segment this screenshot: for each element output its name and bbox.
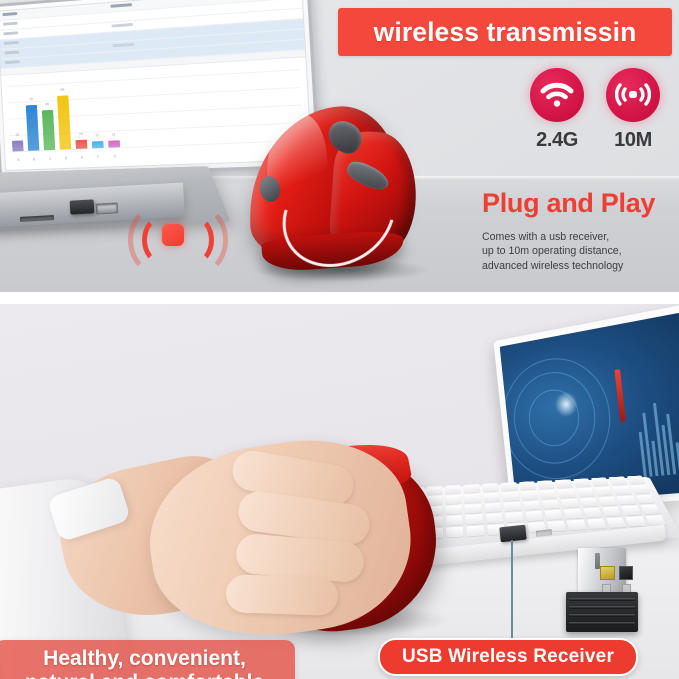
keyboard-key: [626, 516, 647, 526]
chart-bar: 66C: [42, 110, 55, 150]
usb-receiver-label: USB Wireless Receiver: [378, 638, 638, 676]
badge-label: 10M: [606, 129, 660, 152]
healthy-banner-line1: Healthy, convenient,: [25, 647, 264, 671]
keyboard-key: [464, 494, 481, 503]
keyboard-key: [617, 495, 637, 505]
keyboard-key: [486, 513, 504, 523]
keyboard-key: [446, 527, 464, 538]
vertical-ergonomic-mouse: [236, 108, 428, 280]
keyboard-key: [635, 494, 655, 503]
keyboard-key: [505, 512, 523, 522]
chart-bar: 12F: [92, 141, 104, 149]
keyboard-key: [558, 489, 576, 498]
wifi-signal-icon: [530, 68, 584, 122]
keyboard-key: [464, 484, 480, 493]
plug-and-play-description: Comes with a usb receiver, up to 10m ope…: [482, 230, 676, 273]
dashboard-table: [0, 0, 305, 73]
chart-bar: 76B: [26, 105, 40, 151]
usb-plastic-body: [566, 592, 638, 632]
usb-nano-receiver: [566, 548, 638, 632]
headline-banner: wireless transmissin: [338, 8, 672, 56]
keyboard-key: [591, 477, 609, 486]
keyboard-key: [631, 485, 650, 494]
keyboard-key: [519, 481, 536, 490]
keyboard-key: [483, 493, 500, 502]
keyboard-key: [465, 504, 482, 514]
keyboard-key: [561, 499, 580, 509]
usb-contact-dark: [619, 566, 633, 580]
keyboard-key: [539, 490, 557, 499]
description-line: advanced wireless technology: [482, 259, 676, 273]
keyboard-key: [576, 488, 595, 497]
keyboard-key: [521, 491, 539, 500]
healthy-banner: Healthy, convenient, natural and comfort…: [0, 640, 295, 679]
keyboard-key: [445, 485, 461, 494]
keyboard-key: [564, 509, 583, 519]
chart-bar: 88D: [57, 96, 71, 150]
keyboard-key: [542, 500, 560, 510]
badge-10m: 10M: [606, 68, 660, 172]
panel-divider: [0, 292, 679, 304]
keyboard-key: [586, 519, 606, 530]
keyboard-key: [544, 510, 563, 520]
plug-and-play-title: Plug and Play: [482, 190, 676, 217]
usb-metal-connector: [578, 548, 626, 596]
top-panel: 18A76B66C88D14E12F11G: [0, 0, 679, 292]
keyboard-key: [640, 505, 661, 515]
keyboard-key: [573, 478, 591, 487]
keyboard-key: [484, 503, 502, 513]
keyboard-key: [523, 501, 541, 511]
badge-2-4g: 2.4G: [530, 68, 584, 172]
keyboard-key: [602, 507, 622, 517]
keyboard-key: [621, 506, 641, 516]
keyboard-key: [500, 482, 517, 491]
keyboard-key: [609, 476, 628, 485]
badge-label: 2.4G: [530, 129, 584, 152]
keyboard-key: [446, 505, 463, 515]
plug-and-play-block: Plug and Play Comes with a usb receiver,…: [482, 190, 676, 273]
keyboard-key: [594, 487, 613, 496]
wireless-transmission-icon: [606, 68, 660, 122]
keyboard-key: [426, 486, 442, 495]
finger: [225, 574, 338, 616]
chart-bar: 18A: [12, 140, 24, 151]
usb-dongle-plugged-top: [70, 199, 95, 214]
keyboard-key: [537, 480, 555, 489]
product-marketing-image: 18A76B66C88D14E12F11G: [0, 0, 679, 679]
headline-text: wireless transmissin: [374, 17, 637, 48]
healthy-banner-line2: natural and comfortable: [25, 671, 264, 679]
healthy-banner-text: Healthy, convenient, natural and comfort…: [25, 647, 264, 679]
keyboard-key: [598, 497, 617, 507]
chart-bar: 14E: [76, 140, 88, 149]
wireless-wave-icon: [122, 196, 218, 276]
chart-bar: 11G: [108, 140, 120, 147]
description-line: Comes with a usb receiver,: [482, 230, 676, 244]
keyboard-key: [613, 486, 632, 495]
usb-receiver-label-text: USB Wireless Receiver: [402, 646, 614, 668]
keyboard-key: [446, 516, 463, 526]
keyboard-key: [626, 476, 645, 485]
feature-badges: 2.4G 10M: [515, 68, 675, 172]
keyboard-key: [445, 495, 462, 504]
usb-dongle-plugged-bottom: [499, 525, 526, 543]
keyboard-key: [567, 520, 587, 531]
keyboard-key: [466, 514, 484, 524]
keyboard-key: [606, 517, 626, 528]
usb-contact-gold: [600, 566, 615, 580]
keyboard-key: [482, 483, 499, 492]
keyboard-key: [525, 511, 544, 521]
keyboard-key: [583, 508, 603, 518]
keyboard-key: [502, 492, 519, 501]
keyboard-key: [504, 502, 522, 512]
usb-port: [96, 202, 119, 214]
description-line: up to 10m operating distance,: [482, 244, 676, 258]
keyboard-key: [467, 525, 485, 536]
keyboard-key: [579, 498, 598, 508]
keyboard-key: [555, 479, 573, 488]
